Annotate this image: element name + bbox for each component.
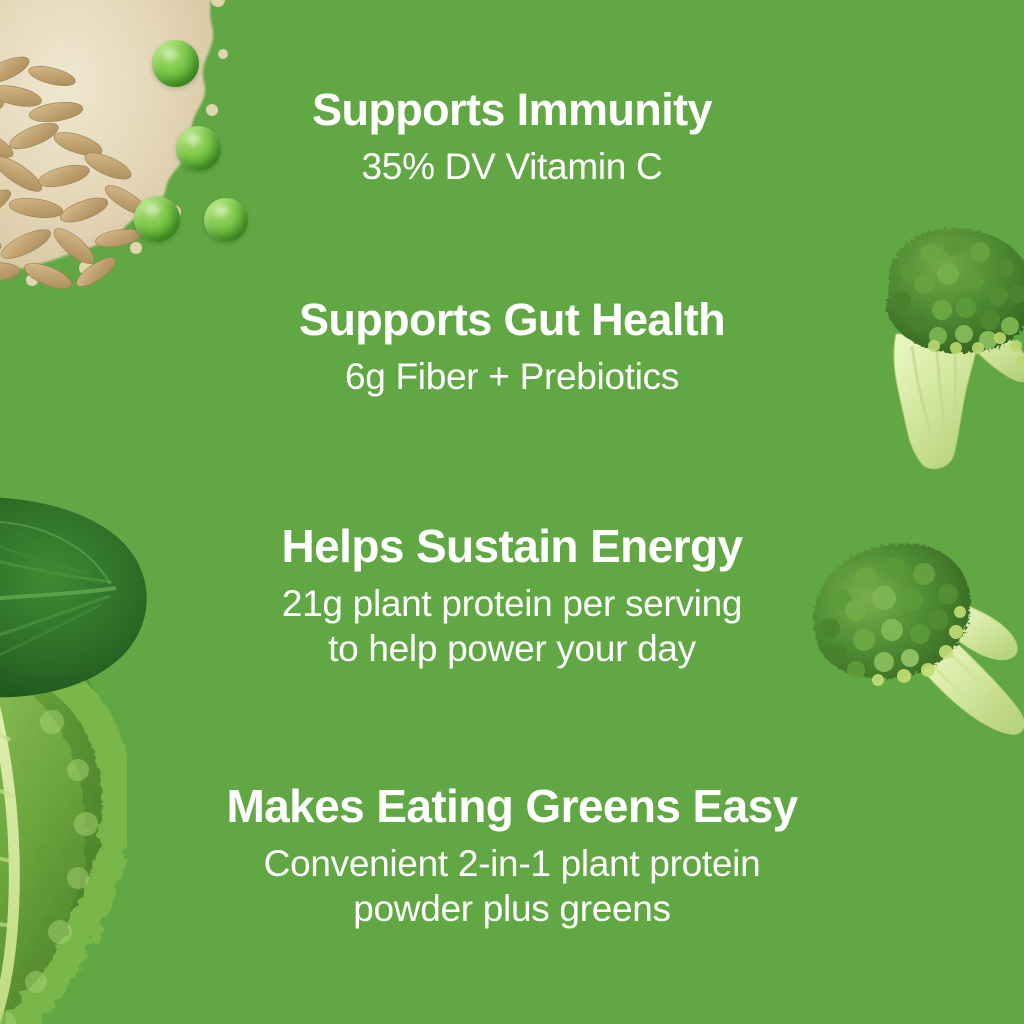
benefit-subtitle-line: 35% DV Vitamin C	[0, 144, 1024, 189]
benefit-subtitle: 35% DV Vitamin C	[0, 135, 1024, 189]
green-pea-icon	[152, 40, 199, 87]
benefit-title: Helps Sustain Energy	[0, 522, 1024, 572]
green-pea-icon	[204, 198, 248, 242]
benefit-subtitle: 21g plant protein per serving to help po…	[0, 572, 1024, 671]
benefit-block-gut-health: Supports Gut Health 6g Fiber + Prebiotic…	[0, 296, 1024, 399]
green-pea-icon	[134, 196, 180, 242]
benefit-title: Supports Immunity	[0, 86, 1024, 135]
benefit-subtitle-line: to help power your day	[0, 626, 1024, 671]
benefit-subtitle-line: 6g Fiber + Prebiotics	[0, 354, 1024, 399]
benefit-title: Supports Gut Health	[0, 296, 1024, 345]
benefit-subtitle-line: 21g plant protein per serving	[0, 581, 1024, 626]
benefit-block-immunity: Supports Immunity 35% DV Vitamin C	[0, 86, 1024, 189]
benefit-subtitle: 6g Fiber + Prebiotics	[0, 345, 1024, 399]
benefit-subtitle: Convenient 2-in-1 plant protein powder p…	[0, 832, 1024, 931]
benefit-subtitle-line: Convenient 2-in-1 plant protein	[0, 841, 1024, 886]
benefit-block-energy: Helps Sustain Energy 21g plant protein p…	[0, 522, 1024, 671]
benefit-block-eating-greens: Makes Eating Greens Easy Convenient 2-in…	[0, 782, 1024, 931]
benefit-title: Makes Eating Greens Easy	[0, 782, 1024, 832]
benefit-subtitle-line: powder plus greens	[0, 886, 1024, 931]
product-benefits-graphic: Supports Immunity 35% DV Vitamin C Suppo…	[0, 0, 1024, 1024]
